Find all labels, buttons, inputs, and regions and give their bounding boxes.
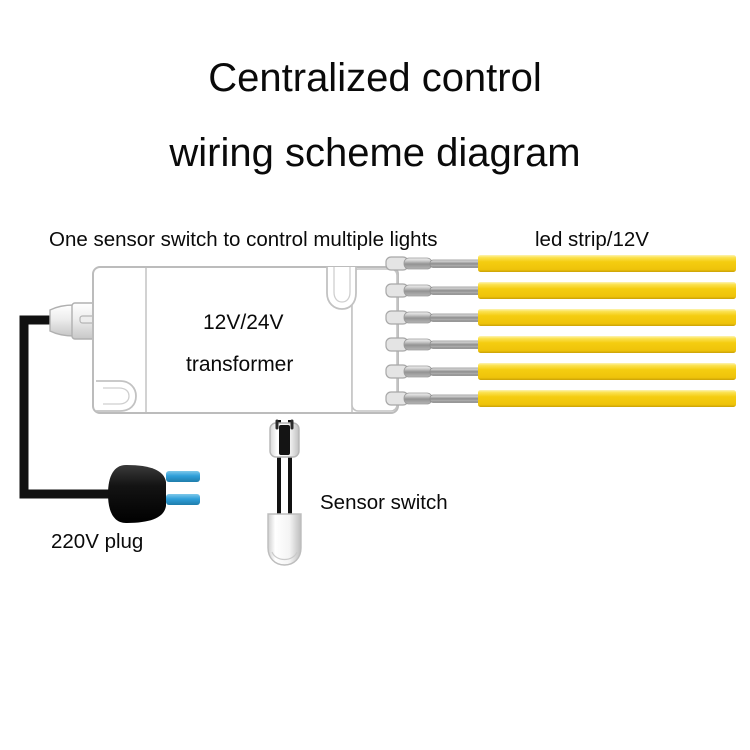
- led-strip: [478, 255, 736, 272]
- connector-lead: [404, 312, 482, 323]
- connector-lead: [404, 393, 482, 404]
- connector-lead: [404, 366, 482, 377]
- label-sensor-multiple-lights: One sensor switch to control multiple li…: [49, 229, 438, 252]
- transformer-housing: [50, 257, 408, 413]
- led-strip: [478, 363, 736, 380]
- label-transformer-name: transformer: [186, 353, 293, 376]
- led-strip: [478, 309, 736, 326]
- plug-pin-bottom: [166, 494, 200, 505]
- power-plug: [108, 465, 200, 523]
- diagram-canvas: Centralized control wiring scheme diagra…: [0, 0, 750, 750]
- plug-body: [108, 465, 166, 523]
- sensor-switch: [268, 420, 301, 565]
- label-sensor-switch: Sensor switch: [320, 492, 448, 515]
- connector-lead: [404, 339, 482, 350]
- page-title-line-2: wiring scheme diagram: [0, 131, 750, 175]
- label-transformer-voltage: 12V/24V: [203, 311, 284, 334]
- sensor-head: [268, 514, 301, 565]
- wiring-diagram: [0, 0, 750, 750]
- led-strip: [478, 390, 736, 407]
- label-led-strip: led strip/12V: [535, 229, 649, 252]
- led-strip: [478, 282, 736, 299]
- connector-leads: [404, 258, 482, 404]
- grommet-cone: [50, 305, 74, 336]
- mounting-bracket-bottom: [96, 381, 136, 411]
- page-title-line-1: Centralized control: [0, 56, 750, 100]
- label-220v-plug: 220V plug: [51, 531, 143, 554]
- sensor-connector-core: [279, 425, 290, 455]
- plug-pin-top: [166, 471, 200, 482]
- connector-lead: [404, 258, 482, 269]
- connector-lead: [404, 285, 482, 296]
- led-strips: [478, 255, 736, 407]
- mounting-bracket-top: [327, 267, 356, 309]
- led-strip: [478, 336, 736, 353]
